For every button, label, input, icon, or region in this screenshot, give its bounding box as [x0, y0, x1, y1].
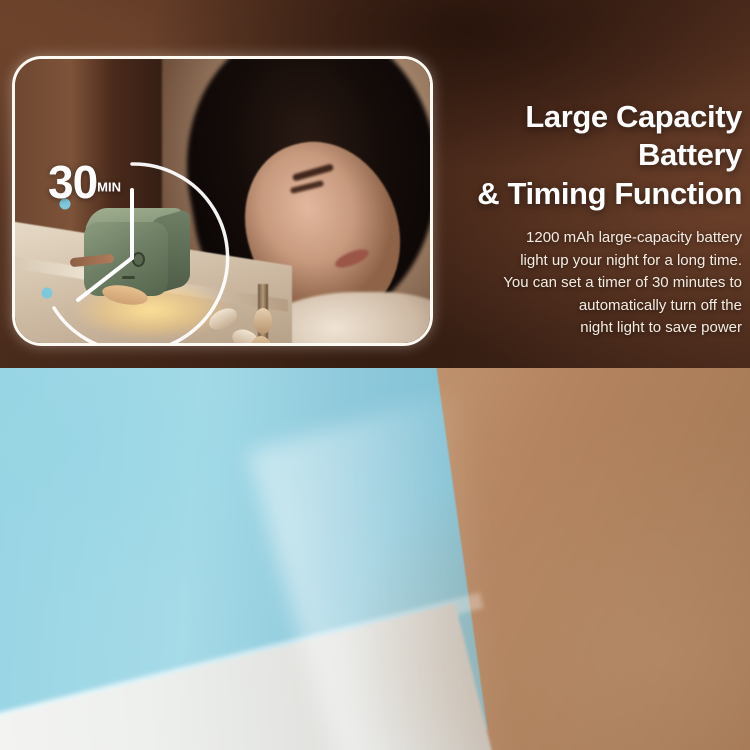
- paragraph-line: You can set a timer of 30 minutes to: [420, 272, 742, 295]
- bottom-panel-background-blur: [0, 368, 750, 750]
- timer-unit: MIN: [97, 180, 121, 195]
- top-panel-paragraph: 1200 mAh large-capacity battery light up…: [420, 227, 742, 340]
- top-panel-copy: Large Capacity Battery & Timing Function…: [420, 98, 742, 340]
- paragraph-line: automatically turn off the: [420, 295, 742, 318]
- paragraph-line: 1200 mAh large-capacity battery: [420, 227, 742, 250]
- top-heading-line-1: Large Capacity Battery: [420, 98, 742, 175]
- lifestyle-photo-frame: 30MIN: [12, 56, 433, 346]
- decor-object: [254, 308, 272, 334]
- paragraph-line: night light to save power: [420, 317, 742, 340]
- top-panel-heading: Large Capacity Battery & Timing Function: [420, 98, 742, 213]
- timer-badge: 30MIN: [48, 162, 121, 203]
- paragraph-line: light up your night for a long time.: [420, 250, 742, 273]
- infographic-page: 30MIN Large Capacity Battery & Timing Fu…: [0, 0, 750, 750]
- top-heading-line-2: & Timing Function: [420, 175, 742, 213]
- bottom-panel: DC 5V: [0, 368, 750, 750]
- timer-value: 30: [48, 156, 97, 208]
- top-panel: 30MIN Large Capacity Battery & Timing Fu…: [0, 0, 750, 368]
- lifestyle-photo: 30MIN: [12, 56, 433, 346]
